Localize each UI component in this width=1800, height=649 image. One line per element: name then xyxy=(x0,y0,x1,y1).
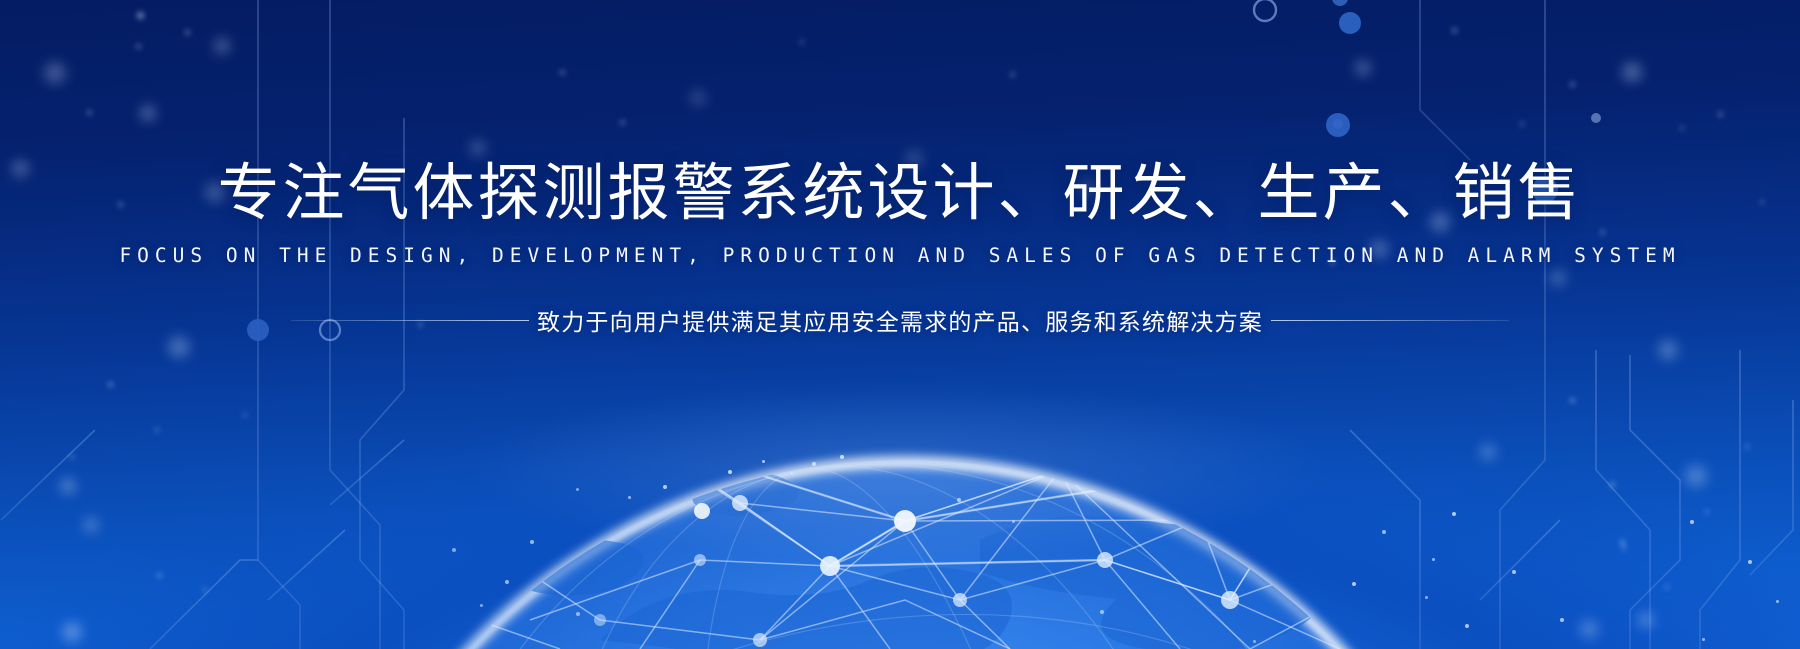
divider-rule-left xyxy=(291,320,529,321)
banner-tagline: 致力于向用户提供满足其应用安全需求的产品、服务和系统解决方案 xyxy=(529,303,1271,337)
continent-shapes xyxy=(517,459,1452,649)
globe-marker-sphere xyxy=(597,416,1489,527)
globe-grid xyxy=(242,384,1569,649)
globe-network-links xyxy=(420,437,1560,649)
globe-network-links-bright xyxy=(640,437,1450,566)
tagline-row: 致力于向用户提供满足其应用安全需求的产品、服务和系统解决方案 xyxy=(0,303,1800,337)
globe-network-nodes xyxy=(594,430,1476,647)
hero-banner: 专注气体探测报警系统设计、研发、生产、销售 FOCUS ON THE DESIG… xyxy=(0,0,1800,649)
divider-rule-right xyxy=(1271,320,1509,321)
page-title: 专注气体探测报警系统设计、研发、生产、销售 xyxy=(0,162,1800,226)
banner-text-block: 专注气体探测报警系统设计、研发、生产、销售 FOCUS ON THE DESIG… xyxy=(0,0,1800,337)
banner-subtitle-english: FOCUS ON THE DESIGN, DEVELOPMENT, PRODUC… xyxy=(0,244,1800,267)
